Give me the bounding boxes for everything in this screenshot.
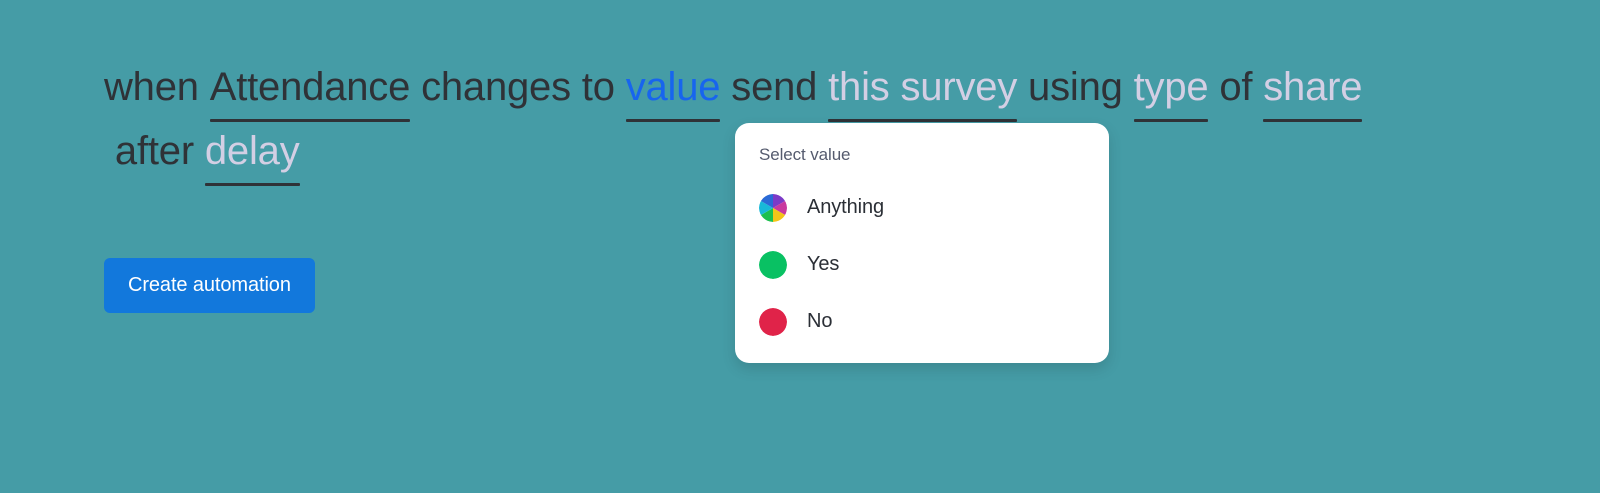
sentence-slot-this-survey[interactable]: this survey xyxy=(828,56,1017,120)
multicolor-pie-icon xyxy=(759,194,787,222)
sentence-slot-value[interactable]: value xyxy=(626,56,721,120)
create-automation-button[interactable]: Create automation xyxy=(104,258,315,313)
dropdown-option-label: No xyxy=(807,310,832,333)
select-value-dropdown: Select value AnythingYesNo xyxy=(735,123,1109,363)
sentence-word-changes-to: changes to xyxy=(421,56,615,120)
sentence-space xyxy=(199,65,210,109)
sentence-slot-share[interactable]: share xyxy=(1263,56,1362,120)
sentence-slot-delay[interactable]: delay xyxy=(205,120,300,184)
dropdown-option-list: AnythingYesNo xyxy=(759,179,1085,350)
sentence-space xyxy=(720,65,731,109)
sentence-space xyxy=(1123,65,1134,109)
sentence-space xyxy=(615,65,626,109)
sentence-space xyxy=(104,129,115,173)
green-dot-icon xyxy=(759,251,787,279)
dropdown-title: Select value xyxy=(759,145,1085,165)
sentence-word-of: of xyxy=(1219,56,1252,120)
sentence-word-after: after xyxy=(115,120,194,184)
sentence-space xyxy=(1252,65,1263,109)
sentence-space xyxy=(410,65,421,109)
sentence-space xyxy=(817,65,828,109)
dropdown-option-label: Yes xyxy=(807,253,839,276)
dropdown-option-no[interactable]: No xyxy=(759,293,1085,350)
create-automation-button-label: Create automation xyxy=(128,274,291,297)
automation-builder-screen: when Attendance changes to value send th… xyxy=(0,0,1600,493)
sentence-word-when: when xyxy=(104,56,199,120)
dropdown-option-anything[interactable]: Anything xyxy=(759,179,1085,236)
sentence-space xyxy=(1017,65,1028,109)
sentence-word-using: using xyxy=(1028,56,1123,120)
sentence-space xyxy=(1208,65,1219,109)
red-dot-icon xyxy=(759,308,787,336)
sentence-space xyxy=(194,129,205,173)
sentence-word-send: send xyxy=(731,56,817,120)
dropdown-option-label: Anything xyxy=(807,196,884,219)
automation-rule-sentence: when Attendance changes to value send th… xyxy=(104,56,1364,184)
sentence-slot-attendance[interactable]: Attendance xyxy=(210,56,410,120)
dropdown-option-yes[interactable]: Yes xyxy=(759,236,1085,293)
sentence-slot-type[interactable]: type xyxy=(1134,56,1209,120)
